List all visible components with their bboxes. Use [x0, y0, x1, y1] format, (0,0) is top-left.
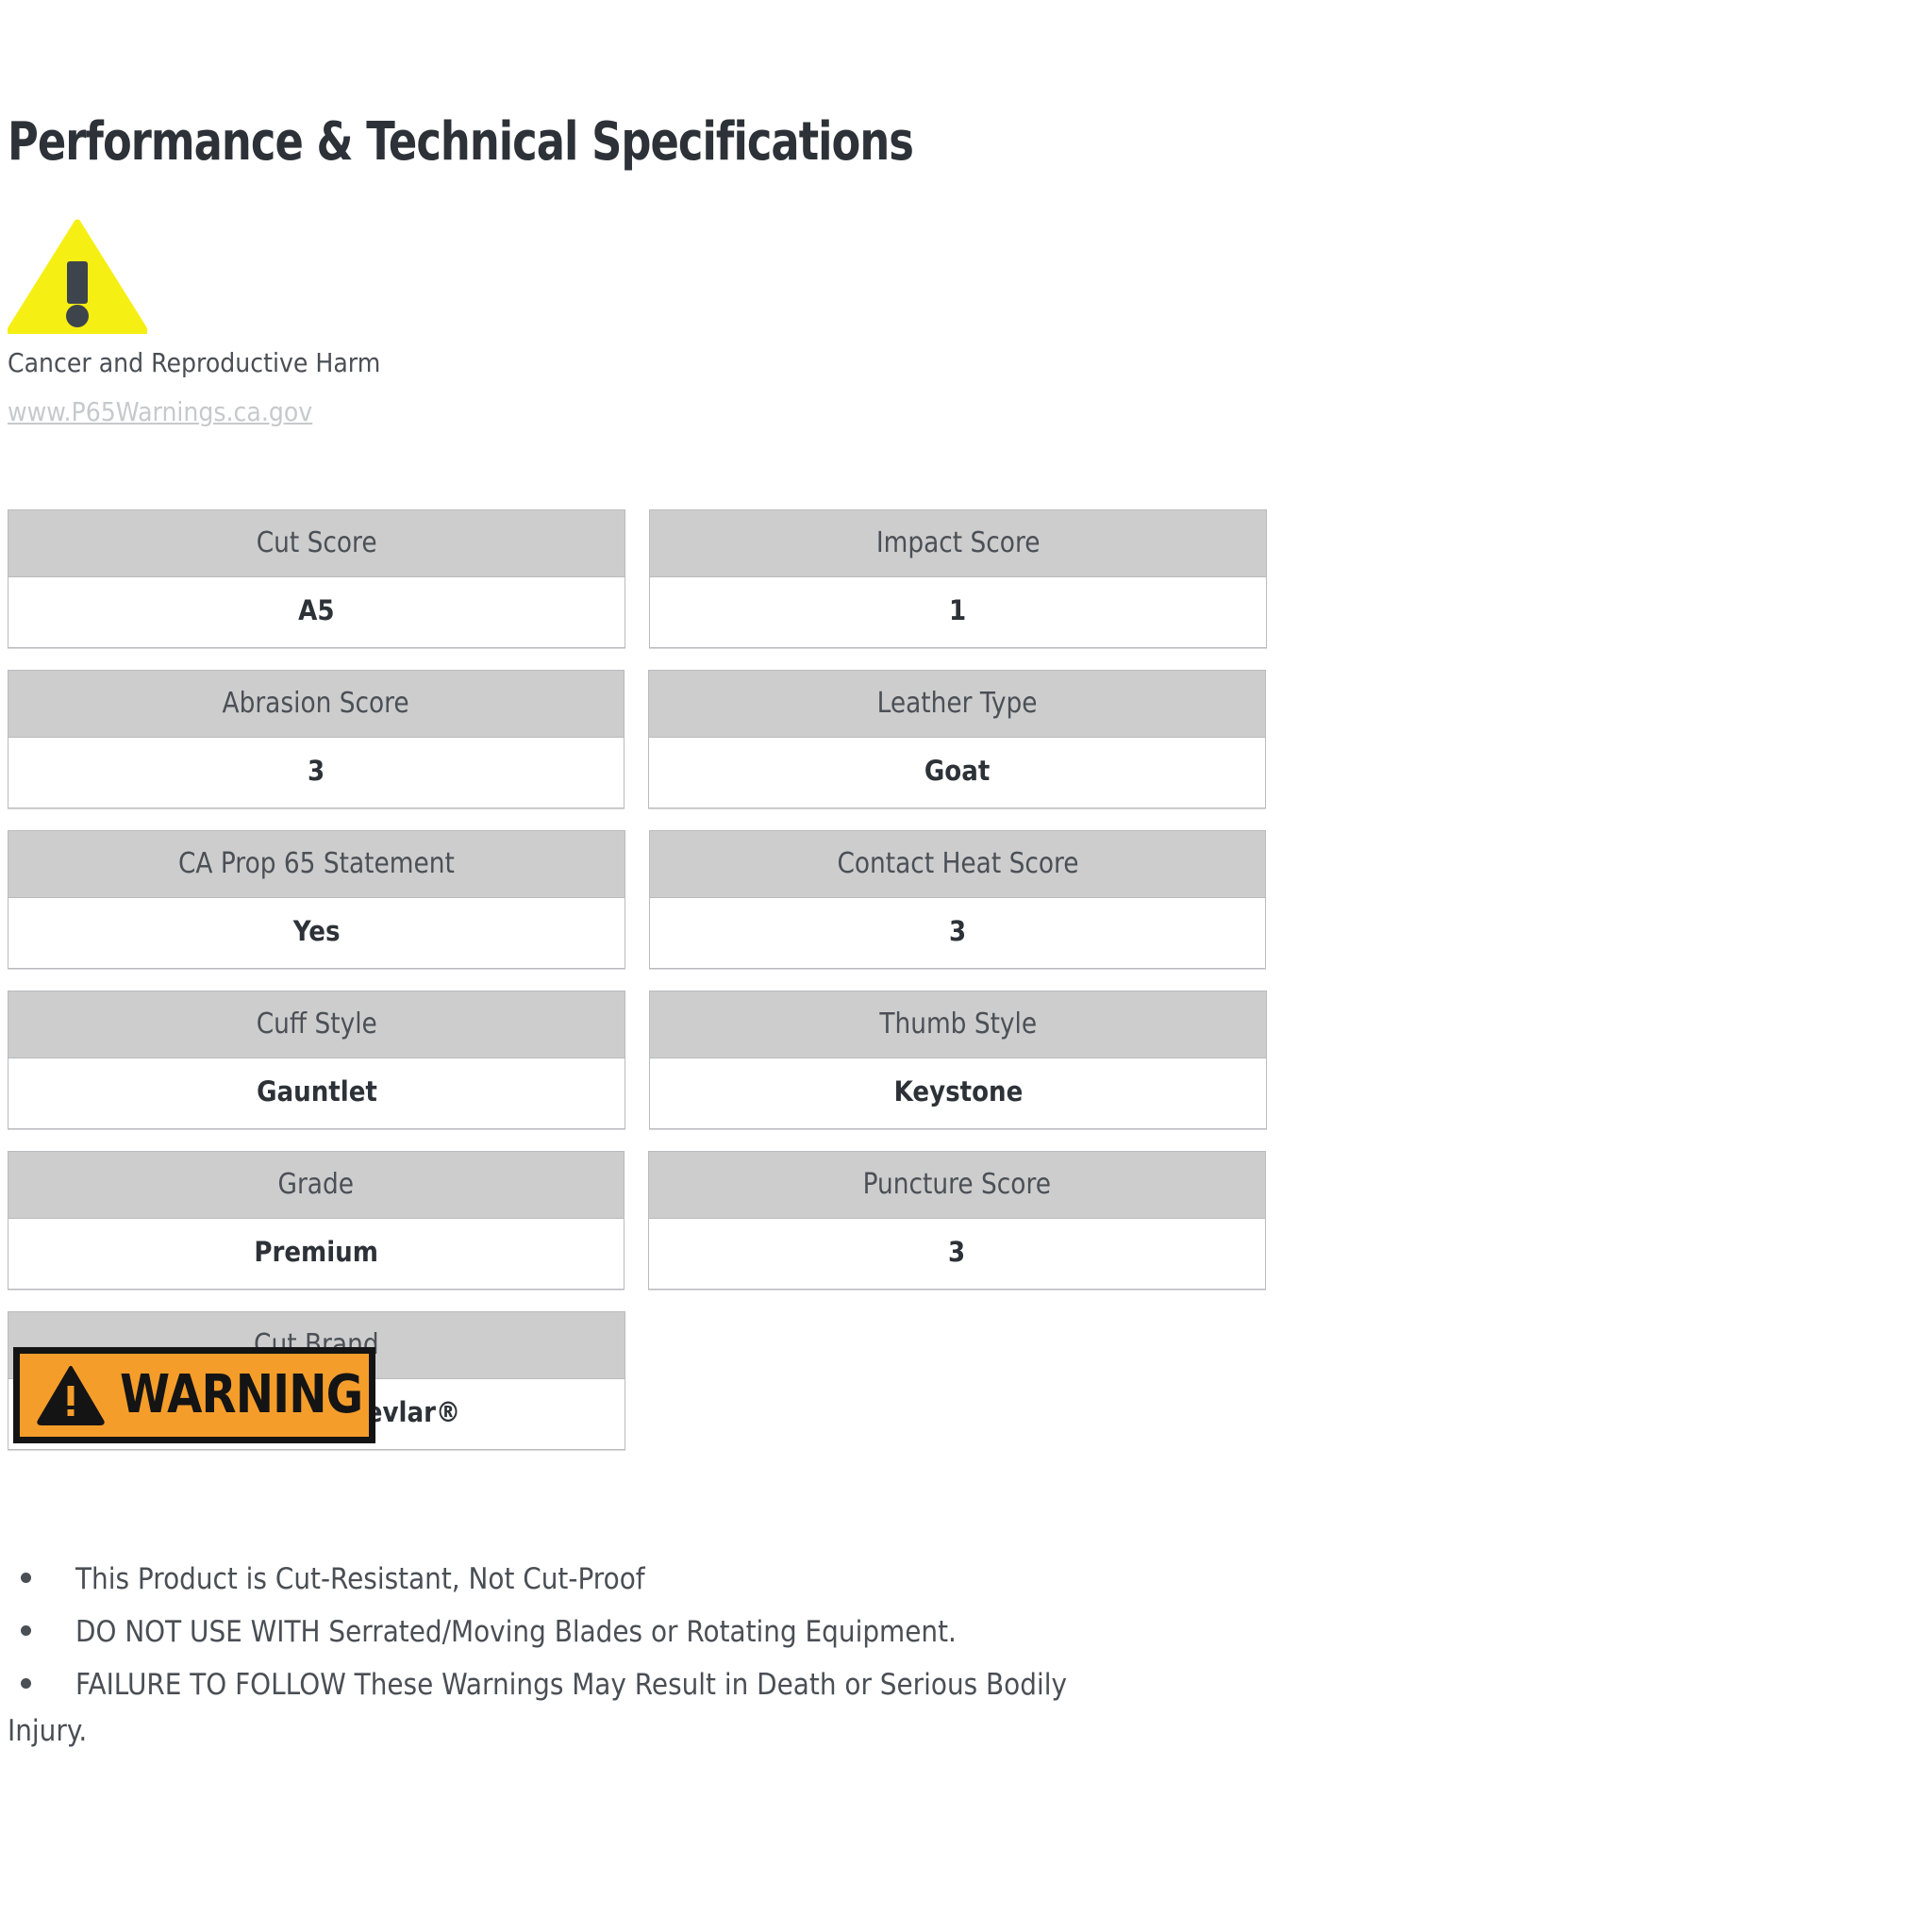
warning-triangle-icon	[8, 219, 147, 334]
spec-card-ca-prop-65-statement: CA Prop 65 Statement Yes	[8, 830, 625, 969]
spec-value: A5	[298, 594, 334, 626]
spec-card-header: Puncture Score	[649, 1152, 1265, 1219]
bullet-dot-icon	[21, 1573, 31, 1583]
list-item: This Product is Cut-Resistant, Not Cut-P…	[8, 1557, 1630, 1603]
spec-card-contact-heat-score: Contact Heat Score 3	[649, 830, 1266, 969]
spec-card-header: Grade	[8, 1152, 624, 1219]
warning-text: DO NOT USE WITH Serrated/Moving Blades o…	[75, 1609, 1474, 1656]
spec-card-header: Leather Type	[649, 671, 1265, 738]
spec-card-cuff-style: Cuff Style Gauntlet	[8, 991, 625, 1129]
spec-card-header: Abrasion Score	[8, 671, 624, 738]
spec-card-header: Cut Score	[8, 510, 625, 577]
warning-triangle-icon	[37, 1365, 105, 1425]
spec-card-header: Impact Score	[650, 510, 1266, 577]
ansi-warning-label: WARNING	[120, 1369, 362, 1422]
spec-card-body: 1	[650, 577, 1266, 647]
spec-card-body: 3	[650, 898, 1265, 968]
spec-card-header: Contact Heat Score	[650, 831, 1265, 898]
page-title: Performance & Technical Specifications	[8, 111, 913, 173]
spec-label: Puncture Score	[863, 1168, 1051, 1201]
warning-text-continuation: Injury.	[8, 1708, 1468, 1755]
spec-card-body: Keystone	[650, 1058, 1266, 1128]
spec-card-header: Cuff Style	[8, 991, 625, 1058]
spec-card-puncture-score: Puncture Score 3	[648, 1151, 1266, 1290]
prop65-harm-text: Cancer and Reproductive Harm	[8, 343, 602, 383]
spec-label: Contact Heat Score	[837, 847, 1078, 880]
spec-card-cut-score: Cut Score A5	[8, 509, 625, 648]
spec-card-body: Goat	[649, 738, 1265, 808]
warning-text: This Product is Cut-Resistant, Not Cut-P…	[75, 1557, 1474, 1603]
spec-card-impact-score: Impact Score 1	[649, 509, 1267, 648]
prop65-warning-block: Cancer and Reproductive Harm www.P65Warn…	[8, 219, 668, 427]
spec-value: Premium	[254, 1236, 378, 1268]
spec-label: Leather Type	[877, 687, 1038, 720]
spec-card-leather-type: Leather Type Goat	[648, 670, 1266, 808]
spec-card-body: 3	[649, 1219, 1265, 1289]
spec-value: Gauntlet	[257, 1075, 377, 1108]
spec-value: Keystone	[893, 1075, 1023, 1108]
spec-label: Grade	[278, 1168, 354, 1201]
spec-card-body: Yes	[8, 898, 625, 968]
spec-value: Yes	[293, 915, 341, 947]
spec-card-body: Premium	[8, 1219, 624, 1289]
spec-label: Cut Score	[257, 526, 377, 559]
spec-label: Abrasion Score	[223, 687, 409, 720]
spec-value: 1	[949, 594, 966, 626]
warning-bullet-list: This Product is Cut-Resistant, Not Cut-P…	[8, 1557, 1630, 1761]
spec-label: Cuff Style	[256, 1008, 376, 1041]
spec-card-body: Gauntlet	[8, 1058, 625, 1128]
spec-value: 3	[948, 1236, 965, 1268]
spec-label: Impact Score	[876, 526, 1041, 559]
spec-card-header: CA Prop 65 Statement	[8, 831, 625, 898]
warning-text: FAILURE TO FOLLOW These Warnings May Res…	[75, 1662, 1474, 1708]
spec-card-header: Thumb Style	[650, 991, 1266, 1058]
spec-card-abrasion-score: Abrasion Score 3	[8, 670, 625, 808]
spec-value: 3	[308, 755, 325, 787]
spec-label: CA Prop 65 Statement	[178, 847, 455, 880]
prop65-warnings-link[interactable]: www.P65Warnings.ca.gov	[8, 396, 312, 427]
ansi-warning-badge: WARNING	[13, 1347, 375, 1443]
list-item: FAILURE TO FOLLOW These Warnings May Res…	[8, 1662, 1630, 1755]
spec-card-grade: Grade Premium	[8, 1151, 625, 1290]
list-item: DO NOT USE WITH Serrated/Moving Blades o…	[8, 1609, 1630, 1656]
spec-value: 3	[949, 915, 966, 947]
spec-card-body: 3	[8, 738, 624, 808]
bullet-dot-icon	[21, 1625, 31, 1636]
spec-value: Goat	[924, 755, 990, 787]
spec-card-body: A5	[8, 577, 625, 647]
product-specifications-page: Performance & Technical Specifications C…	[0, 0, 1932, 1932]
bullet-dot-icon	[21, 1678, 31, 1689]
spec-label: Thumb Style	[879, 1008, 1037, 1041]
specification-grid: Cut Score A5 Impact Score 1 Abrasion Sco…	[8, 509, 1319, 1450]
spec-card-thumb-style: Thumb Style Keystone	[649, 991, 1267, 1129]
